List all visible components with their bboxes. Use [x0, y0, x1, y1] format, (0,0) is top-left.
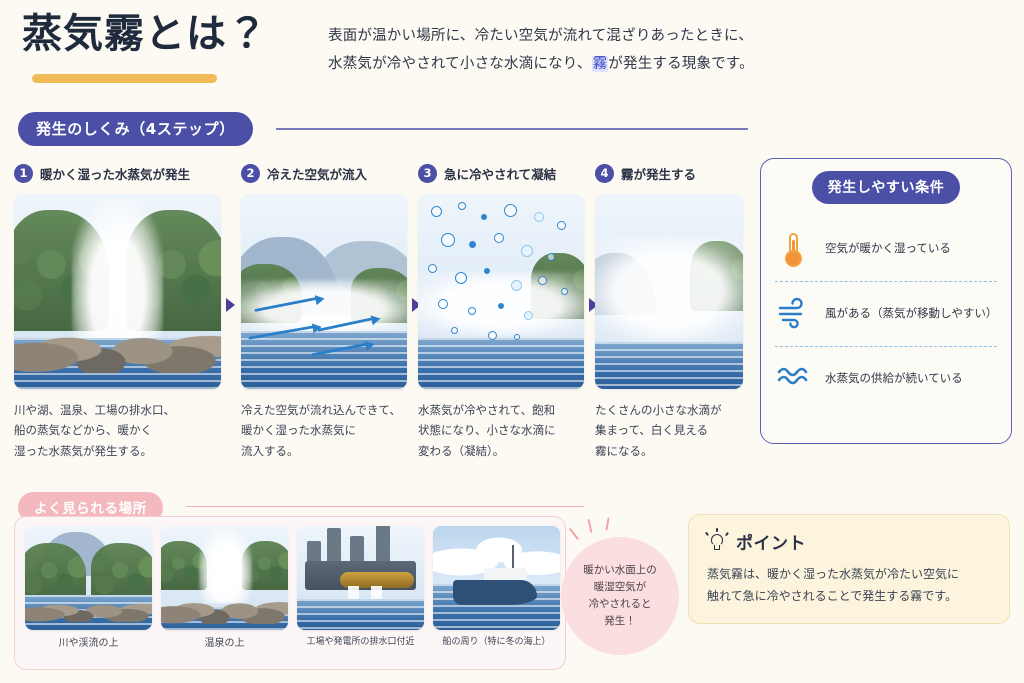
- point-header: ポイント: [707, 529, 991, 554]
- desc-line2-after: が発生する現象です。: [608, 56, 754, 72]
- page-title: 蒸気霧とは？: [22, 12, 268, 56]
- callout-line3: 冷やされると: [583, 596, 657, 613]
- header-description-line1: 表面が温かい場所に、冷たい空気が流れて混ざりあったときに、: [328, 22, 988, 50]
- condition-label-temperature: 空気が暖かく湿っている: [825, 240, 951, 257]
- places-heading-rule: [186, 506, 584, 507]
- desc-line2-before: 水蒸気が冷やされて小さな水滴になり、: [328, 56, 592, 72]
- step-4-caption-line1: たくさんの小さな水滴が: [595, 400, 743, 420]
- places-caption-row: 川や渓流の上 温泉の上 工場や発電所の排水口付近 船の周り（特に冬の海上）: [25, 637, 560, 650]
- conditions-list: 空気が暖かく湿っている 風がある（蒸気が移動しやすい） 水蒸気の供給が: [761, 217, 1011, 411]
- conditions-title-wrap: 発生しやすい条件: [761, 171, 1011, 204]
- places-card: 川や渓流の上 温泉の上 工場や発電所の排水口付近 船の周り（特に冬の海上）: [14, 516, 566, 670]
- callout-text: 暖かい水面上の 暖湿空気が 冷やされると 発生！: [583, 562, 657, 630]
- kiri-highlight: 霧: [592, 56, 609, 72]
- step-2-header: 2 冷えた空気が流入: [241, 160, 407, 186]
- step-arrow-1-to-2: [226, 298, 235, 312]
- lightbulb-icon: [707, 531, 727, 553]
- step-2-title: 冷えた空気が流入: [267, 164, 367, 183]
- bulb-base: [714, 545, 720, 550]
- point-title: ポイント: [736, 529, 806, 554]
- step-1-header: 1 暖かく湿った水蒸気が発生: [14, 160, 221, 186]
- point-text-line1: 蒸気霧は、暖かく湿った水蒸気が冷たい空気に: [707, 563, 991, 585]
- thumbnail-river-stream: [25, 526, 152, 630]
- rocks-layer: [14, 295, 221, 373]
- bulb-ray: [716, 528, 718, 532]
- droplet: [455, 272, 467, 284]
- point-text: 蒸気霧は、暖かく湿った水蒸気が冷たい空気に 触れて急に冷やされることで発生する霧…: [707, 563, 991, 607]
- header: 蒸気霧とは？ 表面が温かい場所に、冷たい空気が流れて混ざりあったときに、 水蒸気…: [0, 0, 1024, 100]
- thumbnail-caption-river: 川や渓流の上: [25, 637, 152, 650]
- droplet: [534, 212, 544, 222]
- step-1: 1 暖かく湿った水蒸気が発生 川や湖、温泉、工場の排水口、 船の蒸気などから、暖…: [14, 160, 221, 461]
- step-3-image: [418, 194, 584, 389]
- header-description-line2: 水蒸気が冷やされて小さな水滴になり、霧が発生する現象です。: [328, 50, 988, 78]
- places-thumbnail-row: [25, 526, 560, 630]
- step-2-number: 2: [241, 164, 260, 183]
- step-1-caption-line2: 船の蒸気などから、暖かく: [14, 420, 221, 440]
- droplet: [561, 288, 568, 295]
- step-2-caption-line2: 暖かく湿った水蒸気に: [241, 420, 407, 440]
- step-2-caption-line3: 流入する。: [241, 441, 407, 461]
- step-3-caption: 水蒸気が冷やされて、飽和 状態になり、小さな水滴に 変わる（凝結）。: [418, 400, 584, 461]
- step-4-number: 4: [595, 164, 614, 183]
- spark-line: [569, 528, 579, 540]
- step-2-caption: 冷えた空気が流れ込んできて、 暖かく湿った水蒸気に 流入する。: [241, 400, 407, 461]
- wind-icon: [777, 296, 811, 332]
- callout-line4: 発生！: [583, 613, 657, 630]
- step-1-caption: 川や湖、温泉、工場の排水口、 船の蒸気などから、暖かく 湿った水蒸気が発生する。: [14, 400, 221, 461]
- water-layer: [418, 338, 584, 389]
- step-1-title: 暖かく湿った水蒸気が発生: [40, 164, 190, 183]
- droplet: [458, 202, 466, 210]
- bulb-ray: [725, 531, 729, 535]
- rocks-layer: [25, 584, 152, 621]
- water-layer: [241, 331, 407, 390]
- condition-row-temperature: 空気が暖かく湿っている: [761, 217, 1011, 281]
- step-1-caption-line3: 湿った水蒸気が発生する。: [14, 441, 221, 461]
- step-4-title: 霧が発生する: [621, 164, 696, 183]
- step-2-caption-line1: 冷えた空気が流れ込んできて、: [241, 400, 407, 420]
- point-box: ポイント 蒸気霧は、暖かく湿った水蒸気が冷たい空気に 触れて急に冷やされることで…: [688, 514, 1010, 624]
- thumbnail-factory-outfall: [297, 526, 424, 630]
- step-3-caption-line3: 変わる（凝結）。: [418, 441, 584, 461]
- droplet: [431, 206, 442, 217]
- step-3-title: 急に冷やされて凝結: [444, 164, 556, 183]
- mechanism-section-title: 発生のしくみ（4ステップ）: [18, 112, 253, 146]
- condition-row-vapor-supply: 水蒸気の供給が続いている: [761, 347, 1011, 411]
- step-4-image: [595, 194, 743, 389]
- droplet: [538, 276, 547, 285]
- step-1-image: [14, 194, 221, 389]
- point-text-line2: 触れて急に冷やされることで発生する霧です。: [707, 585, 991, 607]
- condition-label-wind: 風がある（蒸気が移動しやすい）: [825, 305, 995, 322]
- thumbnail-hot-spring: [161, 526, 288, 630]
- step-1-caption-line1: 川や湖、温泉、工場の排水口、: [14, 400, 221, 420]
- callout-line2: 暖湿空気が: [583, 579, 657, 596]
- step-4-header: 4 霧が発生する: [595, 160, 743, 186]
- thermometer-bulb: [785, 250, 802, 267]
- mechanism-heading: 発生のしくみ（4ステップ）: [18, 112, 738, 146]
- water-layer: [297, 599, 424, 630]
- callout-line1: 暖かい水面上の: [583, 562, 657, 579]
- step-3-header: 3 急に冷やされて凝結: [418, 160, 584, 186]
- droplet: [481, 214, 487, 220]
- step-4-caption: たくさんの小さな水滴が 集まって、白く見える 霧になる。: [595, 400, 743, 461]
- droplet: [498, 303, 504, 309]
- droplet: [488, 331, 497, 340]
- thumbnail-caption-factory: 工場や発電所の排水口付近: [297, 637, 424, 650]
- conditions-card: 発生しやすい条件 空気が暖かく湿っている 風がある（蒸気が移動しやすい）: [760, 158, 1012, 444]
- thumbnail-caption-ship: 船の周り（特に冬の海上）: [433, 637, 560, 650]
- droplet: [511, 280, 522, 291]
- rocks-layer: [161, 578, 288, 624]
- step-3-caption-line2: 状態になり、小さな水滴に: [418, 420, 584, 440]
- step-3-number: 3: [418, 164, 437, 183]
- thumbnail-caption-hot-spring: 温泉の上: [161, 637, 288, 650]
- mist-band: [595, 237, 743, 346]
- bulb-ray: [705, 531, 709, 535]
- ship-hull: [453, 580, 537, 605]
- droplet: [451, 327, 458, 334]
- condition-row-wind: 風がある（蒸気が移動しやすい）: [761, 282, 1011, 346]
- condition-label-vapor-supply: 水蒸気の供給が続いている: [825, 370, 963, 387]
- step-3: 3 急に冷やされて凝結: [418, 160, 584, 461]
- droplet: [521, 245, 533, 257]
- step-2: 2 冷えた空気が流入 冷えた空気が流れ込んできて、 暖かく湿った水蒸気に 流入す…: [241, 160, 407, 461]
- callout-bubble: 暖かい水面上の 暖湿空気が 冷やされると 発生！: [561, 537, 679, 655]
- droplet: [468, 307, 476, 315]
- steps-container: 1 暖かく湿った水蒸気が発生 川や湖、温泉、工場の排水口、 船の蒸気などから、暖…: [14, 160, 750, 480]
- thumbnail-ship-at-sea: [433, 526, 560, 630]
- thermometer-icon: [777, 231, 811, 267]
- mechanism-heading-rule: [276, 128, 748, 130]
- title-underline-stroke: [32, 74, 217, 83]
- step-4-caption-line3: 霧になる。: [595, 441, 743, 461]
- step-2-image: [241, 194, 407, 389]
- conditions-panel-title: 発生しやすい条件: [812, 171, 961, 204]
- water-layer: [595, 342, 743, 389]
- droplet: [504, 204, 517, 217]
- waves-icon: [777, 361, 811, 397]
- title-wrap: 蒸気霧とは？: [22, 12, 268, 56]
- spark-line: [588, 519, 593, 533]
- step-4: 4 霧が発生する たくさんの小さな水滴が 集まって、白く見える 霧になる。: [595, 160, 743, 461]
- spark-line: [605, 517, 609, 530]
- step-1-number: 1: [14, 164, 33, 183]
- step-3-caption-line1: 水蒸気が冷やされて、飽和: [418, 400, 584, 420]
- step-4-caption-line2: 集まって、白く見える: [595, 420, 743, 440]
- header-description: 表面が温かい場所に、冷たい空気が流れて混ざりあったときに、 水蒸気が冷やされて小…: [328, 22, 988, 79]
